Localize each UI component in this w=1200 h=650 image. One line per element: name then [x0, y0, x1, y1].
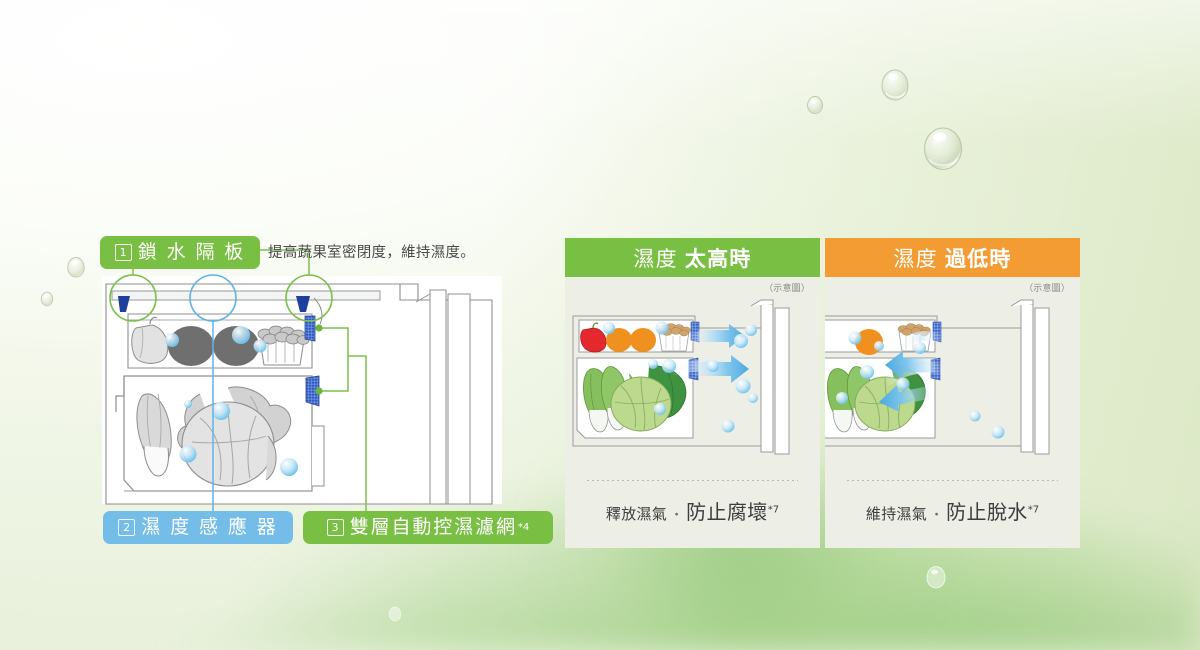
label-3-number: 3 [327, 519, 344, 536]
card-humidity-too-low-header: 濕度 過低時 [825, 238, 1080, 277]
card-humidity-too-low: 濕度 過低時 （示意圖） [825, 238, 1080, 548]
card-1-caption-small: 釋放濕氣 [606, 505, 667, 523]
label-2-number: 2 [118, 519, 135, 536]
card-1-title-main: 太高時 [685, 243, 752, 273]
card-1-caption-footnote: *7 [768, 505, 779, 516]
label-1-description: 提高蔬果室密閉度，維持濕度。 [268, 241, 475, 262]
card-2-title-prefix: 濕度 [893, 243, 938, 273]
card-2-title-main: 過低時 [945, 243, 1012, 273]
humidity-comparison-cards: 濕度 太高時 （示意圖） [565, 238, 1090, 548]
card-2-caption-footnote: *7 [1028, 505, 1039, 516]
card-1-caption-dot: ・ [670, 508, 683, 523]
card-humidity-too-high-header: 濕度 太高時 [565, 238, 820, 277]
card-2-caption-small: 維持濕氣 [866, 505, 927, 523]
card-2-caption-big: 防止脫水 [946, 500, 1028, 524]
card-1-title-prefix: 濕度 [633, 243, 678, 273]
label-1-number: 1 [115, 244, 132, 261]
card-2-divider [847, 480, 1058, 481]
crisper-illustration [100, 236, 504, 548]
label-3-dual-humidity-filter[interactable]: 3 雙層自動控濕濾網*4 [303, 511, 553, 544]
label-3-footnote: *4 [518, 523, 529, 533]
card-1-illustration [565, 286, 820, 471]
card-1-caption-big: 防止腐壞 [686, 500, 768, 524]
label-2-humidity-sensor[interactable]: 2 濕 度 感 應 器 [103, 511, 293, 544]
card-2-caption: 維持濕氣・防止脫水*7 [825, 496, 1080, 525]
label-3-text: 雙層自動控濕濾網 [350, 518, 517, 537]
card-1-divider [587, 480, 798, 481]
label-2-text: 濕 度 感 應 器 [141, 518, 277, 537]
label-1-text: 鎖 水 隔 板 [138, 243, 245, 262]
card-2-illustration [825, 286, 1080, 471]
card-1-caption: 釋放濕氣・防止腐壞*7 [565, 496, 820, 525]
page-root: 1 鎖 水 隔 板 提高蔬果室密閉度，維持濕度。 2 濕 度 感 應 器 3 雙… [0, 0, 1200, 650]
fridge-crisper-diagram: 1 鎖 水 隔 板 提高蔬果室密閉度，維持濕度。 2 濕 度 感 應 器 3 雙… [100, 236, 504, 548]
card-humidity-too-high: 濕度 太高時 （示意圖） [565, 238, 820, 548]
label-1-water-lock-panel[interactable]: 1 鎖 水 隔 板 [100, 236, 260, 269]
card-2-caption-dot: ・ [930, 508, 943, 523]
